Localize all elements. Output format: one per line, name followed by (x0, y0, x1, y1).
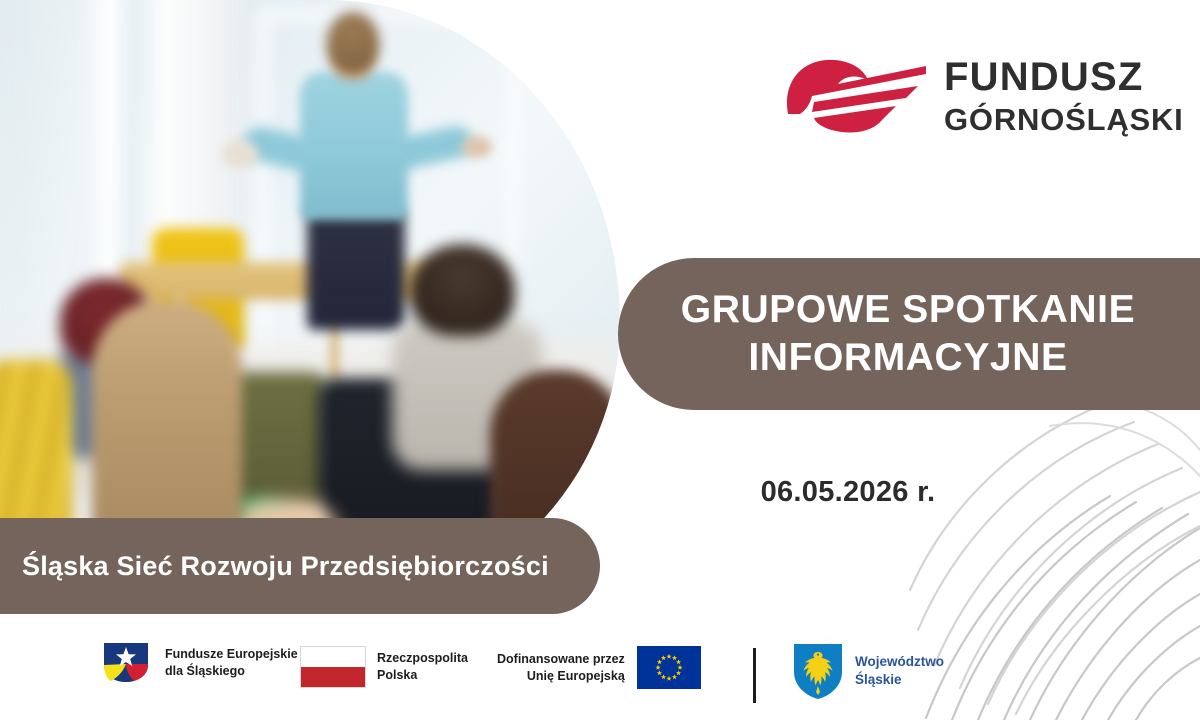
eu-funds-stars-icon (98, 640, 154, 686)
footer-eu-cofunding-logo: Dofinansowane przez Unię Europejską (497, 646, 701, 689)
footer-eu-cofunding-line-2: Unię Europejską (497, 668, 625, 685)
footer-voivodeship-text: Województwo Śląskie (855, 653, 944, 688)
footer-eu-cofunding-line-1: Dofinansowane przez (497, 651, 625, 668)
european-union-flag-icon (637, 646, 701, 689)
photo-presenter-hand-left (222, 140, 258, 168)
fingerprint-decoration-icon (900, 380, 1200, 720)
footer-voivodeship-logo: Województwo Śląskie (792, 642, 944, 700)
polish-flag-icon (300, 646, 366, 688)
poster-canvas: FUNDUSZ GÓRNOŚLĄSKI GRUPOWE SPOTKANIE IN… (0, 0, 1200, 720)
footer-voivodeship-line-1: Województwo (855, 653, 944, 671)
photo-presenter-hand-right (462, 136, 492, 158)
footer-eu-funds-text: Fundusze Europejskie dla Śląskiego (165, 646, 298, 680)
photo-attendee-dark-head (410, 244, 515, 336)
silesian-coat-of-arms-icon (792, 642, 844, 700)
title-line-1: GRUPOWE SPOTKANIE (681, 286, 1135, 334)
brand-wordmark: FUNDUSZ GÓRNOŚLĄSKI (944, 57, 1184, 135)
footer-republic-text: Rzeczpospolita Polska (377, 650, 468, 684)
subtitle-text: Śląska Sieć Rozwoju Przedsiębiorczości (22, 551, 549, 582)
footer-republic-line-1: Rzeczpospolita (377, 650, 468, 667)
footer-republic-line-2: Polska (377, 667, 468, 684)
subtitle-banner: Śląska Sieć Rozwoju Przedsiębiorczości (0, 518, 600, 614)
footer-divider (753, 648, 756, 703)
footer-eu-funds-line-2: dla Śląskiego (165, 663, 298, 680)
brand-line-2: GÓRNOŚLĄSKI (944, 104, 1184, 135)
photo-presenter-shirt (300, 72, 408, 220)
footer-eu-funds-logo: Fundusze Europejskie dla Śląskiego (98, 640, 298, 686)
footer-eu-funds-line-1: Fundusze Europejskie (165, 646, 298, 663)
title-line-2: INFORMACYJNE (748, 334, 1067, 382)
fundusz-gornoslaski-logo: FUNDUSZ GÓRNOŚLĄSKI (778, 52, 1184, 140)
brand-line-1: FUNDUSZ (944, 57, 1184, 97)
photo-presenter-head (327, 12, 379, 74)
photo-presenter-legs (307, 210, 405, 330)
footer-republic-logo: Rzeczpospolita Polska (300, 646, 468, 688)
footer-voivodeship-line-2: Śląskie (855, 671, 944, 689)
fundusz-eagle-mark-icon (778, 52, 928, 140)
title-banner: GRUPOWE SPOTKANIE INFORMACYJNE (618, 258, 1200, 410)
footer-eu-cofunding-text: Dofinansowane przez Unię Europejską (497, 651, 625, 685)
event-date: 06.05.2026 r. (618, 476, 1078, 509)
